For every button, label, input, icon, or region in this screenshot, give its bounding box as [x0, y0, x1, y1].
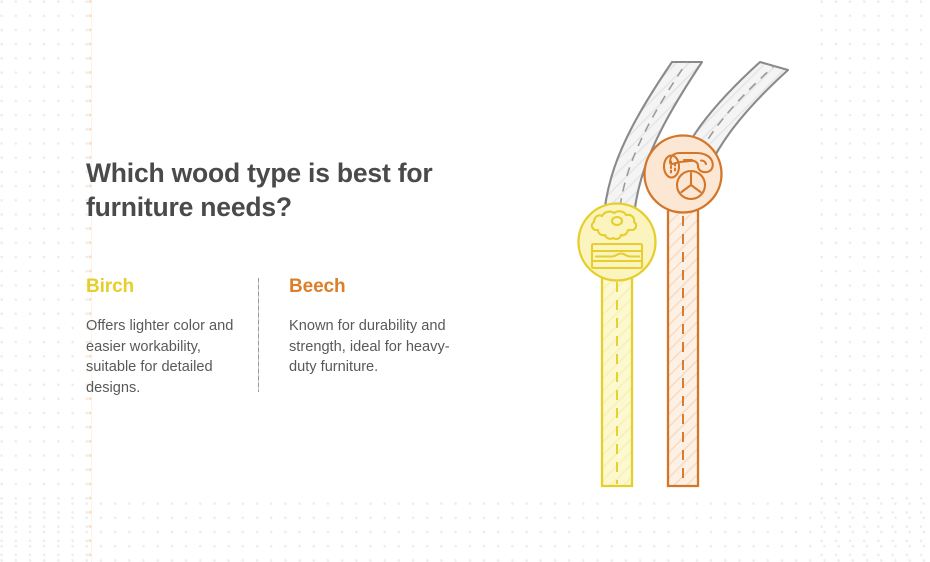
birch-badge	[579, 204, 656, 281]
dot-grid-right	[820, 0, 930, 562]
dot-grid-bottom	[0, 502, 930, 562]
column-birch: Birch Offers lighter color and easier wo…	[86, 276, 258, 398]
column-body-birch: Offers lighter color and easier workabil…	[86, 316, 251, 398]
column-title-beech: Beech	[289, 276, 461, 298]
beech-badge	[645, 136, 722, 213]
beech-path-colored-segment	[668, 172, 698, 486]
text-content: Which wood type is best for furniture ne…	[86, 156, 486, 398]
column-title-birch: Birch	[86, 276, 258, 298]
column-body-beech: Known for durability and strength, ideal…	[289, 316, 454, 378]
comparison-columns: Birch Offers lighter color and easier wo…	[86, 276, 486, 398]
wood-types-illustration	[520, 40, 820, 510]
column-beech: Beech Known for durability and strength,…	[289, 276, 461, 398]
slide-canvas: Which wood type is best for furniture ne…	[0, 0, 930, 562]
column-divider	[258, 278, 259, 392]
dot-grid-left	[0, 0, 92, 562]
page-title: Which wood type is best for furniture ne…	[86, 156, 466, 224]
